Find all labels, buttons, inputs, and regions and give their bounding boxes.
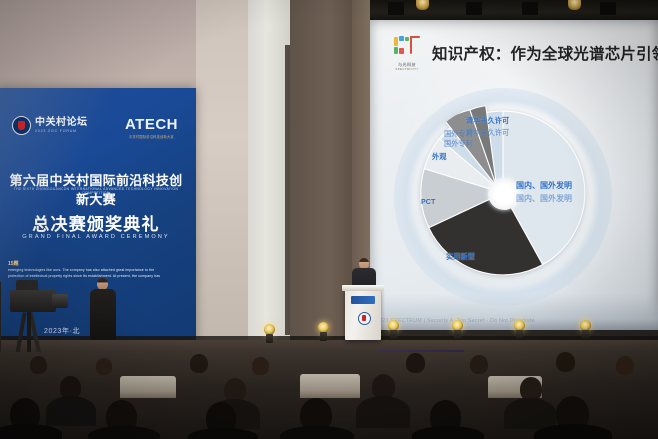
camera-body (10, 290, 56, 312)
photo-scene: 与光科技 SPECTRICITY 知识产权：作为全球光谱芯片引领者， (0, 0, 658, 439)
attendee-body (90, 289, 116, 340)
podium (345, 288, 381, 340)
banner-subtitle-cn: 总决赛颁奖典礼 (5, 210, 187, 235)
zgc-logo-cn: 中关村论坛 (35, 118, 88, 128)
audience-head (190, 354, 208, 373)
audience-head (616, 356, 634, 375)
audience-shoulders (356, 396, 410, 428)
logo-bar-top (410, 36, 420, 38)
audience-head (30, 356, 47, 374)
logo-bar-yellow (394, 37, 398, 46)
pie-label-foreign-patent-ghost: 国外专利 (444, 139, 473, 149)
stage-light (386, 320, 401, 339)
projection-screen: 与光科技 SPECTRICITY 知识产权：作为全球光谱芯片引领者， (370, 20, 658, 330)
zgc-logo-en: 2023 ZGC FORUM (35, 130, 88, 134)
audience-shoulders (280, 426, 354, 439)
truss-block (600, 2, 616, 15)
logo-bar-green (405, 37, 409, 41)
ceiling-truss-band (370, 0, 658, 22)
standing-attendee (90, 278, 116, 340)
seat-back (120, 376, 176, 398)
logo-caption-en: SPECTRICITY (386, 67, 428, 71)
stage-light (450, 320, 465, 339)
podium-logo-plate (351, 296, 375, 304)
truss-block (466, 2, 482, 15)
audience-head (96, 358, 112, 375)
audience-head (556, 352, 575, 372)
audience-head (252, 357, 269, 375)
banner-headline-en: THE SIXTH ZHONGGUANCUN INTERNATIONAL ADV… (5, 187, 187, 195)
audience-head (470, 355, 488, 374)
truss-block (388, 2, 404, 15)
stage-light (316, 322, 331, 341)
logo-bar-blue (399, 36, 404, 41)
atech-wordmark: ATECH (125, 116, 178, 133)
seat-back (300, 374, 360, 398)
ceiling-spotlight (416, 0, 429, 10)
truss-block (522, 2, 538, 15)
atech-logo: ATECH 中关村国际前沿科技创新大赛 (125, 116, 178, 139)
camera-lens (52, 294, 68, 308)
pie-label-domestic-foreign-invention: 国内、国外发明 (516, 180, 572, 191)
audience-shoulders (412, 426, 484, 439)
audience-shoulders (0, 424, 62, 439)
caption-number: 15题 (8, 260, 188, 267)
podium-seal-icon (358, 312, 371, 325)
slide-title: 知识产权：作为全球光谱芯片引领者， (432, 42, 658, 64)
logo-mark (390, 36, 424, 60)
stage-light (578, 320, 593, 339)
pie-label-tsinghua-license: 清华永久许可 (466, 116, 509, 126)
zgc-badge-icon (12, 116, 31, 135)
audience-shoulders (46, 396, 96, 426)
audience-head (406, 353, 425, 373)
spectrum-chip-company-logo: 与光科技 SPECTRICITY (386, 36, 428, 76)
podium-top (342, 285, 384, 291)
pie-label-pct: PCT (421, 197, 435, 206)
audience-shoulders (88, 426, 160, 439)
audience-shoulders (188, 428, 258, 439)
pie-chart: 国内、国外发明 国内、国外发明 清华永久许可 清华永久许可 国外专利 国外专利 … (398, 92, 608, 302)
zgc-forum-logo: 中关村论坛 2023 ZGC FORUM (12, 116, 88, 135)
audience-shoulders (534, 424, 612, 439)
audience-area (0, 352, 658, 439)
ceiling-spotlight (568, 0, 581, 10)
stage-light (512, 320, 527, 339)
pie-label-foreign-patent: 国外专利 (444, 129, 473, 139)
stage-light (262, 324, 277, 343)
pie-label-design: 外观 (432, 152, 446, 162)
logo-bar-stem (410, 36, 412, 54)
atech-subtitle: 中关村国际前沿科技创新大赛 (125, 134, 178, 139)
pie-label-domestic-foreign-invention-ghost: 国内、国外发明 (516, 193, 572, 204)
logo-bar-green2 (394, 47, 398, 54)
audience-shoulders (504, 398, 556, 429)
pie-label-utility-model: 实用新型 (446, 252, 475, 262)
logo-bar-red (399, 48, 404, 54)
banner-subtitle-en: GRAND FINAL AWARD CEREMONY (5, 234, 187, 240)
